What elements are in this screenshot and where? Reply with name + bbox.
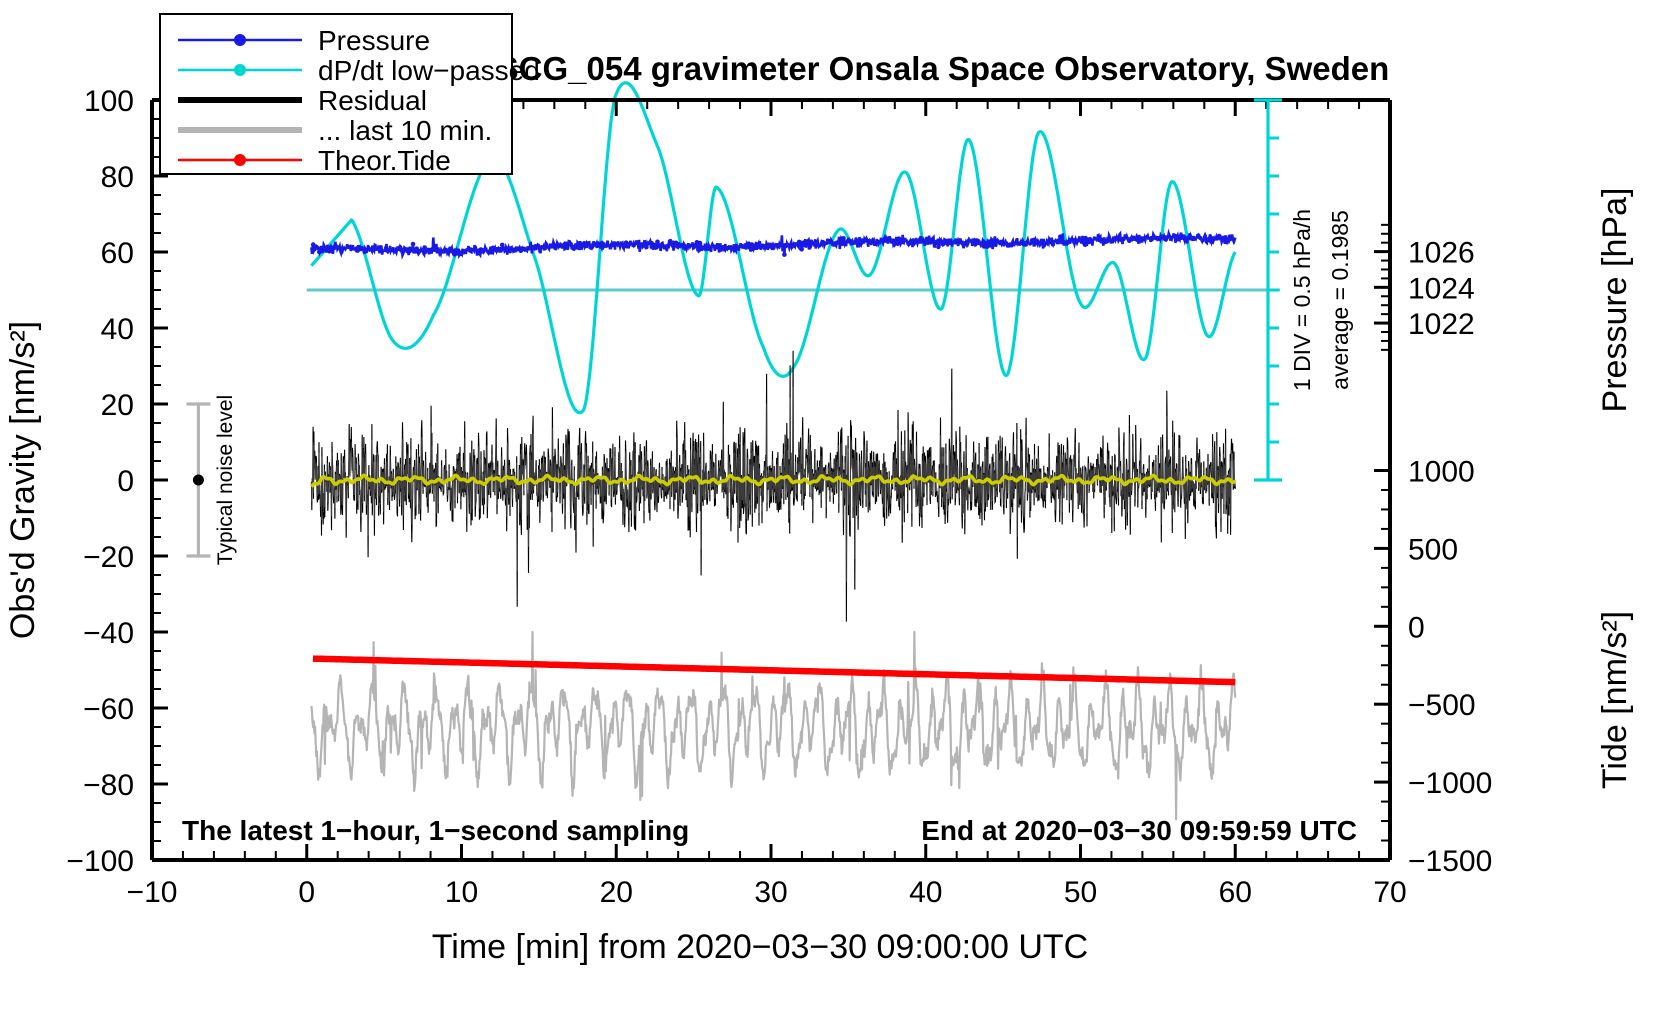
y-axis-tide-title: Tide [nm/s²] [1596, 611, 1634, 789]
y-tick-label-left: −80 [83, 769, 134, 802]
legend: PressuredP/dt low−passedResidual... last… [160, 14, 540, 176]
x-tick-label: 20 [600, 876, 633, 909]
x-tick-label: 40 [909, 876, 942, 909]
legend-item-label: ... last 10 min. [318, 115, 492, 146]
x-tick-label: 70 [1373, 876, 1406, 909]
gravimeter-plot: −10010203040506070−100−80−60−40−20020406… [0, 0, 1660, 1020]
legend-swatch-marker [234, 64, 246, 76]
y-tick-label-left: 0 [117, 465, 134, 498]
legend-swatch-marker [234, 34, 246, 46]
y-tick-label-tide: 1000 [1408, 456, 1475, 489]
y-tick-label-left: −20 [83, 541, 134, 574]
y-tick-label-left: −100 [66, 845, 134, 878]
y-axis-left-title: Obs'd Gravity [nm/s²] [4, 321, 42, 639]
y-tick-label-left: −60 [83, 693, 134, 726]
y-tick-label-pressure: 1026 [1408, 237, 1475, 270]
x-axis-title: Time [min] from 2020−03−30 09:00:00 UTC [432, 928, 1088, 966]
legend-item-label: dP/dt low−passed [318, 55, 540, 86]
page-title: SCG_054 gravimeter Onsala Space Observat… [497, 50, 1390, 87]
y-tick-label-pressure: 1022 [1408, 308, 1475, 341]
x-tick-label: 10 [445, 876, 478, 909]
x-tick-label: −10 [127, 876, 178, 909]
legend-item-label: Pressure [318, 25, 430, 56]
y-tick-label-left: 20 [101, 389, 134, 422]
y-tick-label-tide: 0 [1408, 611, 1425, 644]
y-tick-label-tide: −1500 [1408, 845, 1492, 878]
y-tick-label-left: 60 [101, 237, 134, 270]
x-tick-label: 50 [1064, 876, 1097, 909]
legend-item-label: Residual [318, 85, 427, 116]
errorbar-center-dot [193, 475, 204, 486]
y-tick-label-left: −40 [83, 617, 134, 650]
scalebar-average-label: average = 0.1985 [1327, 210, 1353, 390]
y-tick-label-tide: −1000 [1408, 767, 1492, 800]
y-tick-label-tide: −500 [1408, 689, 1476, 722]
typical-noise-level-label: Typical noise level [214, 395, 237, 565]
y-tick-label-pressure: 1024 [1408, 272, 1475, 305]
y-tick-label-left: 100 [84, 85, 134, 118]
x-tick-label: 30 [754, 876, 787, 909]
annotation-bottom-right: End at 2020−03−30 09:59:59 UTC [921, 815, 1357, 846]
y-tick-label-left: 80 [101, 161, 134, 194]
y-tick-label-left: 40 [101, 313, 134, 346]
legend-item-label: Theor.Tide [318, 145, 451, 176]
annotation-bottom-left: The latest 1−hour, 1−second sampling [182, 815, 689, 846]
y-tick-label-tide: 500 [1408, 533, 1458, 566]
x-tick-label: 60 [1219, 876, 1252, 909]
scalebar-div-label: 1 DIV = 0.5 hPa/h [1289, 209, 1315, 391]
legend-swatch-marker [234, 154, 246, 166]
y-axis-pressure-title: Pressure [hPa] [1596, 188, 1634, 413]
x-tick-label: 0 [298, 876, 315, 909]
